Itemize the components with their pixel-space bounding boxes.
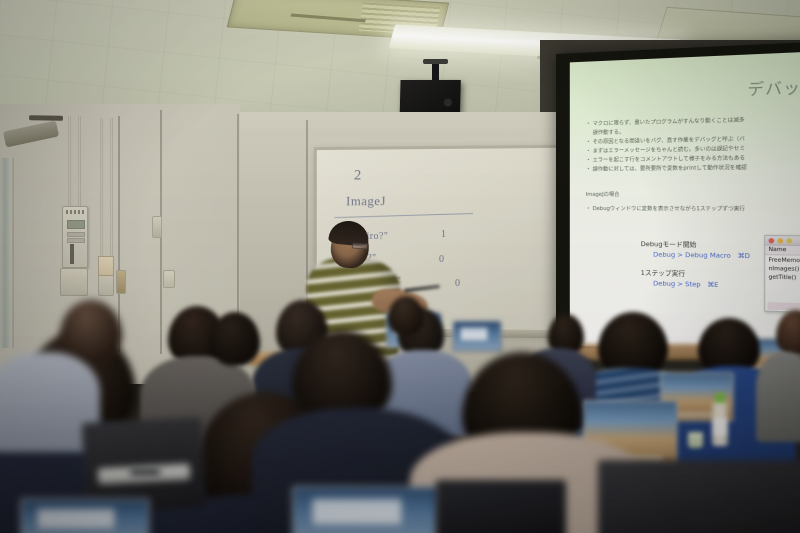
command-shortcut: ⌘D [737,251,749,260]
command-line: Debug > Debug Macro ⌘D [641,250,750,262]
slide-section-label: ImageJの場合 [586,191,620,198]
whiteboard-text: 2 [354,168,362,185]
wall-conduit [110,118,113,258]
close-icon[interactable] [769,238,775,243]
imagej-variable-rows: FreeMemory() nImages() getTitle() [765,255,800,285]
projection-screen-frame: デバッグ ・ マクロに限らず、書いたプログラムがすんなり動くことは滅多 誤作動す… [556,41,800,366]
command-text: Debug > Step [653,279,701,288]
whiteboard-text: 0 [455,278,461,289]
light-switch-plate-3[interactable] [116,270,126,294]
wall-conduit [68,116,71,212]
table-row: getTitle() [769,274,800,284]
wall-fitting [152,216,162,238]
projected-slide: デバッグ ・ マクロに限らず、書いたプログラムがすんなり動くことは滅多 誤作動す… [570,51,800,357]
lecture-room-photo: 2 ImageJ "Ichiro?" 1 "Jiro?" 0 "not Ichi… [0,0,800,533]
door-window-strip [0,158,14,348]
foreground-head-side [60,300,122,362]
maximize-icon[interactable] [787,238,793,243]
ac-thermostat-panel[interactable] [62,206,88,268]
drink-bottle [712,402,728,446]
wall-conduit [100,118,103,258]
audience-head [388,296,424,336]
slide-section-bullet: ・ Debugウィンドウに変数を表示させながら1ステップずつ実行 [586,205,745,212]
bottle-cap-icon [715,393,725,403]
laptop-hinge [130,468,160,476]
switch-label-sticker [98,256,114,276]
whiteboard-text: ImageJ [346,193,386,209]
laptop[interactable] [20,498,150,533]
light-switch-plate[interactable] [60,268,88,296]
laptop[interactable] [292,486,442,533]
slide-command-block: Debugモード開始 Debug > Debug Macro ⌘D 1ステップ実… [641,240,750,292]
laptop[interactable] [452,320,502,352]
slide-title: デバッグ [747,75,800,100]
glasses-icon [352,242,368,249]
command-text: Debug > Debug Macro [653,250,731,260]
slide-bullet: ・ 誤作動に対しては、要所要所で変数をprintして動作状況を確認 [586,162,800,174]
bottle-label [712,418,728,436]
slide-bullet-list: ・ マクロに限らず、書いたプログラムがすんなり動くことは滅多 誤作動する。 ・ … [586,114,800,174]
command-line: Debug > Step ⌘E [641,279,750,292]
laptop-back[interactable] [598,460,800,533]
whiteboard-text: 0 [439,254,444,265]
wall-conduit [78,116,81,212]
audience-body [756,352,800,442]
imagej-debug-window: Name FreeMemory() nImages() getTitle() [764,235,800,314]
paper-cup [688,432,703,448]
command-shortcut: ⌘E [707,280,718,289]
minimize-icon[interactable] [778,238,784,243]
whiteboard-underline [334,213,473,218]
laptop-back[interactable] [436,480,566,533]
audience-head [210,312,260,366]
whiteboard-text: 1 [441,229,446,240]
wall-panel-seam [118,116,120,352]
wall-outlet[interactable] [163,270,175,288]
